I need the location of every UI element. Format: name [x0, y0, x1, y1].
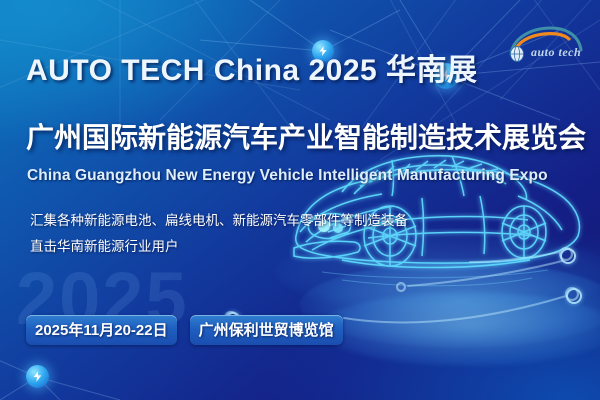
- date-badge: 2025年11月20-22日: [26, 315, 177, 345]
- logo-text: auto tech: [531, 45, 581, 60]
- lightning-bolt-icon-bottom-left: [26, 365, 49, 388]
- subtitle-english: China Guangzhou New Energy Vehicle Intel…: [27, 167, 548, 185]
- auto-tech-logo: auto tech: [505, 24, 591, 64]
- expo-poster: 2025: [0, 0, 600, 400]
- venue-badge: 广州保利世贸博览馆: [190, 315, 343, 345]
- subtitle-chinese: 广州国际新能源汽车产业智能制造技术展览会: [26, 116, 586, 156]
- description-line-2: 直击华南新能源行业用户: [30, 234, 408, 260]
- circuit-node-a: [566, 288, 582, 304]
- description-line-1: 汇集各种新能源电池、扁线电机、新能源汽车零部件等制造装备: [30, 208, 408, 234]
- platform-glow-inner: [318, 292, 600, 366]
- info-badges: 2025年11月20-22日 广州保利世贸博览馆: [26, 315, 343, 345]
- page-title: AUTO TECH China 2025 华南展: [26, 45, 478, 89]
- circuit-node-b: [560, 248, 576, 264]
- platform-glow-mid: [300, 262, 600, 348]
- description-block: 汇集各种新能源电池、扁线电机、新能源汽车零部件等制造装备 直击华南新能源行业用户: [30, 208, 408, 260]
